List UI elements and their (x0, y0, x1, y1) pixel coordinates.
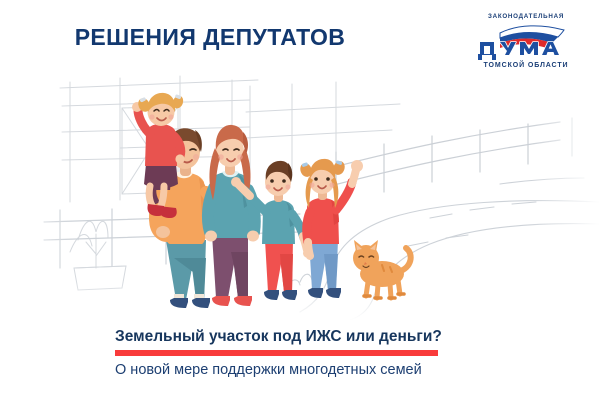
footer-block: Земельный участок под ИЖС или деньги? О … (115, 328, 535, 379)
headline-question: Земельный участок под ИЖС или деньги? (115, 328, 535, 346)
family-illustration (0, 72, 600, 320)
red-underline-rule (115, 350, 438, 356)
figure-girl (298, 159, 363, 298)
figure-mother (205, 125, 259, 306)
page-title: РЕШЕНИЯ ДЕПУТАТОВ (0, 26, 420, 49)
subheadline-text: О новой мере поддержки многодетных семей (115, 362, 535, 379)
logo-wordmark-icon (470, 21, 582, 61)
logo-line-bottom: ТОМСКОЙ ОБЛАСТИ (470, 62, 582, 69)
poster-canvas: РЕШЕНИЯ ДЕПУТАТОВ ЗАКОНОДАТЕЛЬНАЯ (0, 0, 600, 400)
duma-logo: ЗАКОНОДАТЕЛЬНАЯ (470, 14, 582, 76)
logo-line-top: ЗАКОНОДАТЕЛЬНАЯ (470, 14, 582, 20)
